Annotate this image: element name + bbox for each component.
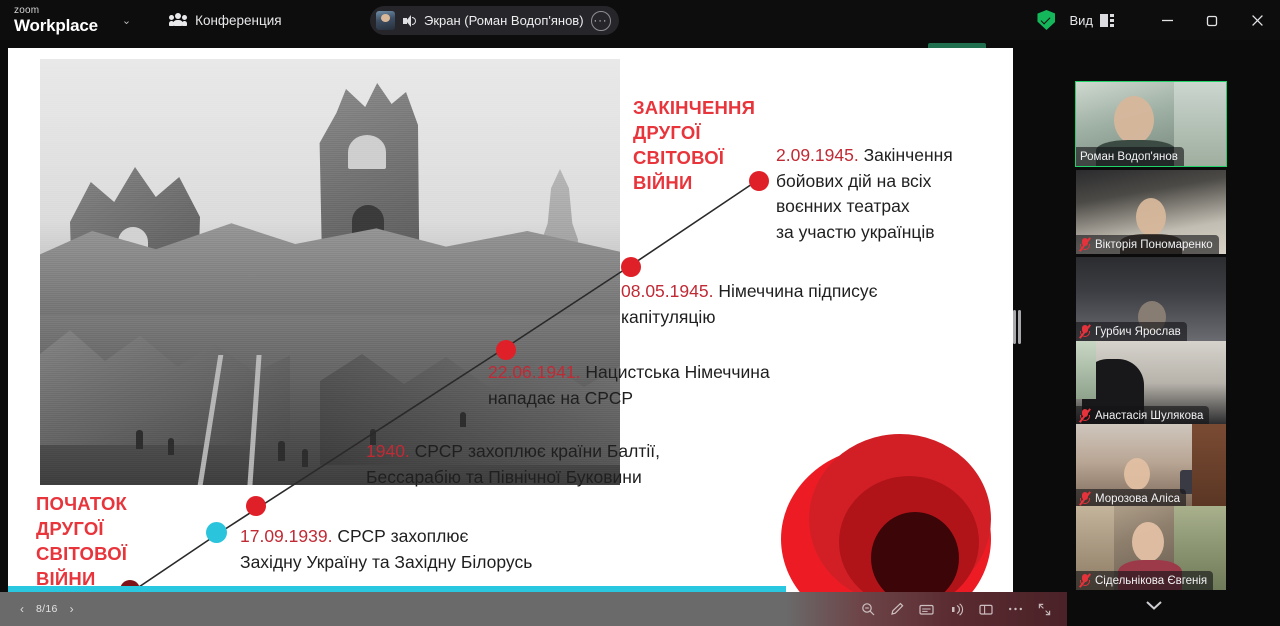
participant-name-1: Вікторія Пономаренко (1095, 239, 1213, 251)
chevron-down-icon[interactable]: ⌄ (122, 14, 131, 27)
mic-muted-icon (1080, 492, 1091, 505)
security-shield-icon[interactable] (1037, 10, 1055, 30)
wwii-ruins-photograph (40, 59, 620, 485)
event-date: 1940. (366, 441, 410, 461)
nav-item-meeting[interactable]: Конференция (169, 13, 282, 28)
mic-muted-icon (1080, 574, 1091, 587)
speaker-icon (402, 14, 417, 28)
share-toolbar: ‹ 8/16 › (0, 592, 1067, 626)
screen-share-label: Экран (Роман Водоп'янов) (424, 13, 584, 28)
participant-tile-1[interactable]: Вікторія Пономаренко (1076, 170, 1226, 254)
participant-name-bar-2: Гурбич Ярослав (1076, 322, 1187, 341)
timeline-event-1939: 17.09.1939. СРСР захоплює Західну Україн… (240, 524, 640, 575)
participant-tile-2[interactable]: Гурбич Ярослав (1076, 257, 1226, 341)
expand-icon[interactable] (1038, 603, 1051, 616)
mic-muted-icon (1080, 409, 1091, 422)
participant-tile-3[interactable]: Анастасія Шулякова (1076, 341, 1226, 425)
timeline-dot-1945-05 (621, 257, 641, 277)
participant-name-bar-3: Анастасія Шулякова (1076, 406, 1209, 425)
participant-name-bar-0: Роман Водоп'янов (1076, 147, 1184, 166)
participant-name-5: Сідельнікова Євгенія (1095, 575, 1207, 587)
share-toolbar-tools (861, 602, 1051, 616)
next-slide-button[interactable]: › (70, 602, 74, 616)
slide-pager: ‹ 8/16 › (20, 602, 74, 616)
title-bar: zoom Workplace ⌄ Конференция Экран (Рома… (0, 0, 1280, 40)
window-controls: Вид (1037, 0, 1280, 40)
timeline-event-1941: 22.06.1941. Нацистська Німеччина нападає… (488, 360, 838, 411)
maximize-button[interactable] (1190, 0, 1235, 40)
windows-icon[interactable] (979, 603, 993, 616)
event-date: 17.09.1939. (240, 526, 332, 546)
participant-name-bar-1: Вікторія Пономаренко (1076, 235, 1219, 254)
panel-resize-handle[interactable] (1012, 310, 1023, 344)
mic-muted-icon (1080, 238, 1091, 251)
brand-name-zoom: zoom (14, 6, 98, 16)
captions-icon[interactable] (919, 603, 934, 616)
zoom-icon[interactable] (861, 602, 875, 616)
presentation-slide[interactable]: ← ЗАКІНЧЕННЯ ДРУГОЇ СВІТОВОЇ ВІЙНИ ПОЧАТ… (8, 48, 1013, 592)
participant-name-4: Морозова Аліса (1095, 493, 1180, 505)
heading-start-of-war: ПОЧАТОК ДРУГОЇ СВІТОВОЇ ВІЙНИ (36, 491, 186, 591)
participant-name-0: Роман Водоп'янов (1080, 151, 1178, 163)
participant-tile-4[interactable]: Морозова Аліса (1076, 424, 1226, 508)
view-layout-button[interactable]: Вид (1069, 13, 1115, 28)
screen-share-status-pill[interactable]: Экран (Роман Водоп'янов) ··· (370, 6, 619, 35)
timeline-event-1945-09: 2.09.1945. Закінчення бойових дій на всі… (776, 143, 1013, 245)
timeline-dot-1940 (246, 496, 266, 516)
annotate-icon[interactable] (890, 602, 904, 616)
more-icon[interactable] (1008, 606, 1023, 612)
timeline-event-1945-05: 08.05.1945. Німеччина підписує капітуляц… (621, 279, 961, 330)
scroll-participants-down-button[interactable] (1140, 596, 1168, 614)
close-button[interactable] (1235, 0, 1280, 40)
prev-slide-button[interactable]: ‹ (20, 602, 24, 616)
sharer-avatar (376, 11, 395, 30)
mic-muted-icon (1080, 325, 1091, 338)
poppy-decoration (765, 424, 1005, 592)
slide-page-indicator: 8/16 (36, 603, 58, 615)
zoom-workplace-brand[interactable]: zoom Workplace ⌄ (14, 6, 131, 34)
timeline-event-1940: 1940. СРСР захоплює країни Балтії, Бесса… (366, 439, 726, 490)
brand-text: zoom Workplace (14, 6, 98, 34)
audio-icon[interactable] (949, 603, 964, 616)
more-options-icon[interactable]: ··· (591, 11, 611, 31)
annotation-cursor-dot (206, 522, 227, 543)
shared-screen-stage: ← ЗАКІНЧЕННЯ ДРУГОЇ СВІТОВОЇ ВІЙНИ ПОЧАТ… (0, 40, 1067, 626)
heading-end-of-war: ЗАКІНЧЕННЯ ДРУГОЇ СВІТОВОЇ ВІЙНИ (633, 95, 773, 195)
participant-name-bar-5: Сідельнікова Євгенія (1076, 571, 1213, 590)
participant-tile-5[interactable]: Сідельнікова Євгенія (1076, 506, 1226, 590)
nav-item-meeting-label: Конференция (195, 13, 282, 28)
view-label: Вид (1069, 13, 1093, 28)
participant-name-3: Анастасія Шулякова (1095, 410, 1203, 422)
layout-grid-icon (1100, 14, 1115, 27)
participant-tile-0[interactable]: Роман Водоп'янов (1076, 82, 1226, 166)
people-icon (169, 13, 187, 27)
event-date: 08.05.1945. (621, 281, 713, 301)
timeline-dot-1941 (496, 340, 516, 360)
event-date: 2.09.1945. (776, 145, 859, 165)
brand-name-workplace: Workplace (14, 17, 98, 34)
participant-name-2: Гурбич Ярослав (1095, 326, 1181, 338)
event-text: СРСР захоплює країни Балтії, Бессарабію … (366, 441, 660, 487)
event-date: 22.06.1941. (488, 362, 580, 382)
minimize-button[interactable] (1145, 0, 1190, 40)
